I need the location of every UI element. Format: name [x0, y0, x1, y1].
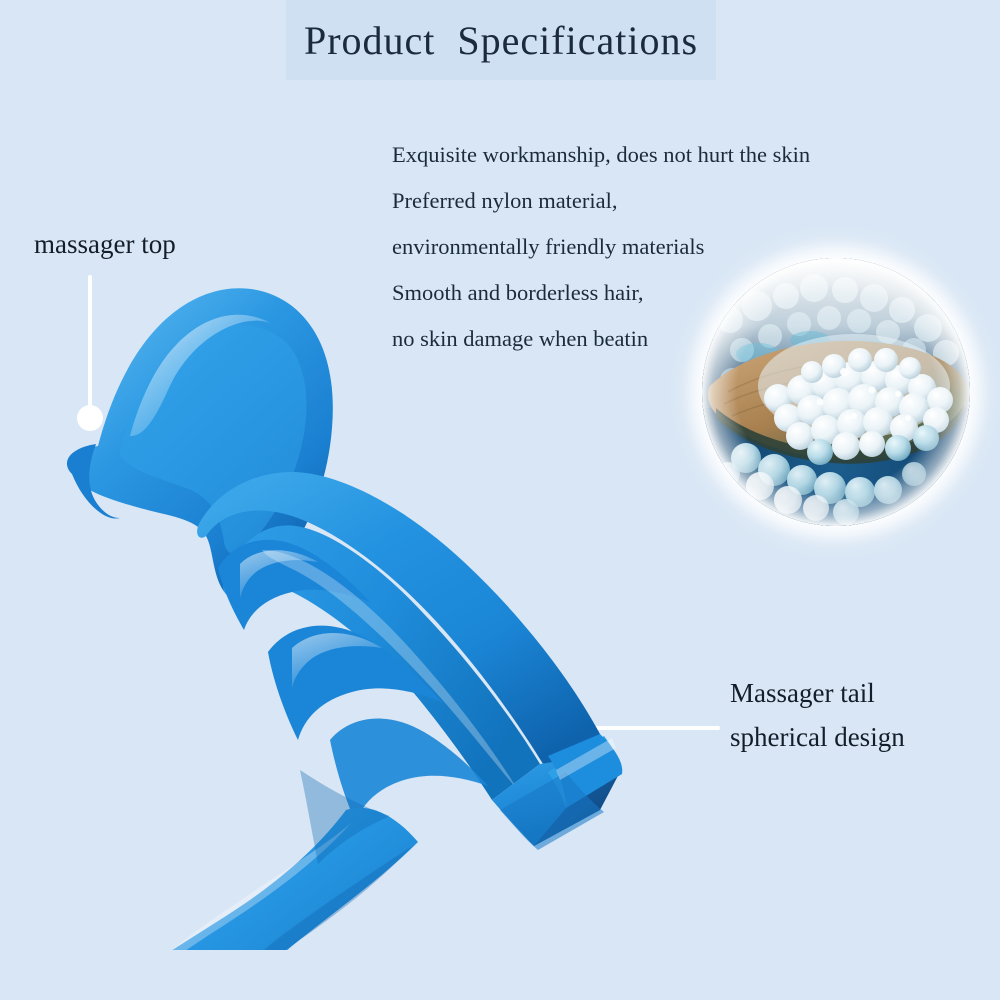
product-illustration-massage-hammer — [0, 250, 660, 950]
massager-body — [67, 288, 600, 822]
callout-label-line-1: Massager tail — [730, 671, 905, 715]
product-specification-image: Product Specifications Exquisite workman… — [0, 0, 1000, 1000]
page-title: Product Specifications — [286, 0, 716, 80]
spec-line: Exquisite workmanship, does not hurt the… — [392, 132, 912, 178]
callout-label-line-2: spherical design — [730, 715, 905, 759]
nylon-pellets-inset-photo — [702, 258, 970, 526]
callout-label-massager-tail: Massager tail spherical design — [730, 671, 905, 759]
spec-line: Preferred nylon material, — [392, 178, 912, 224]
